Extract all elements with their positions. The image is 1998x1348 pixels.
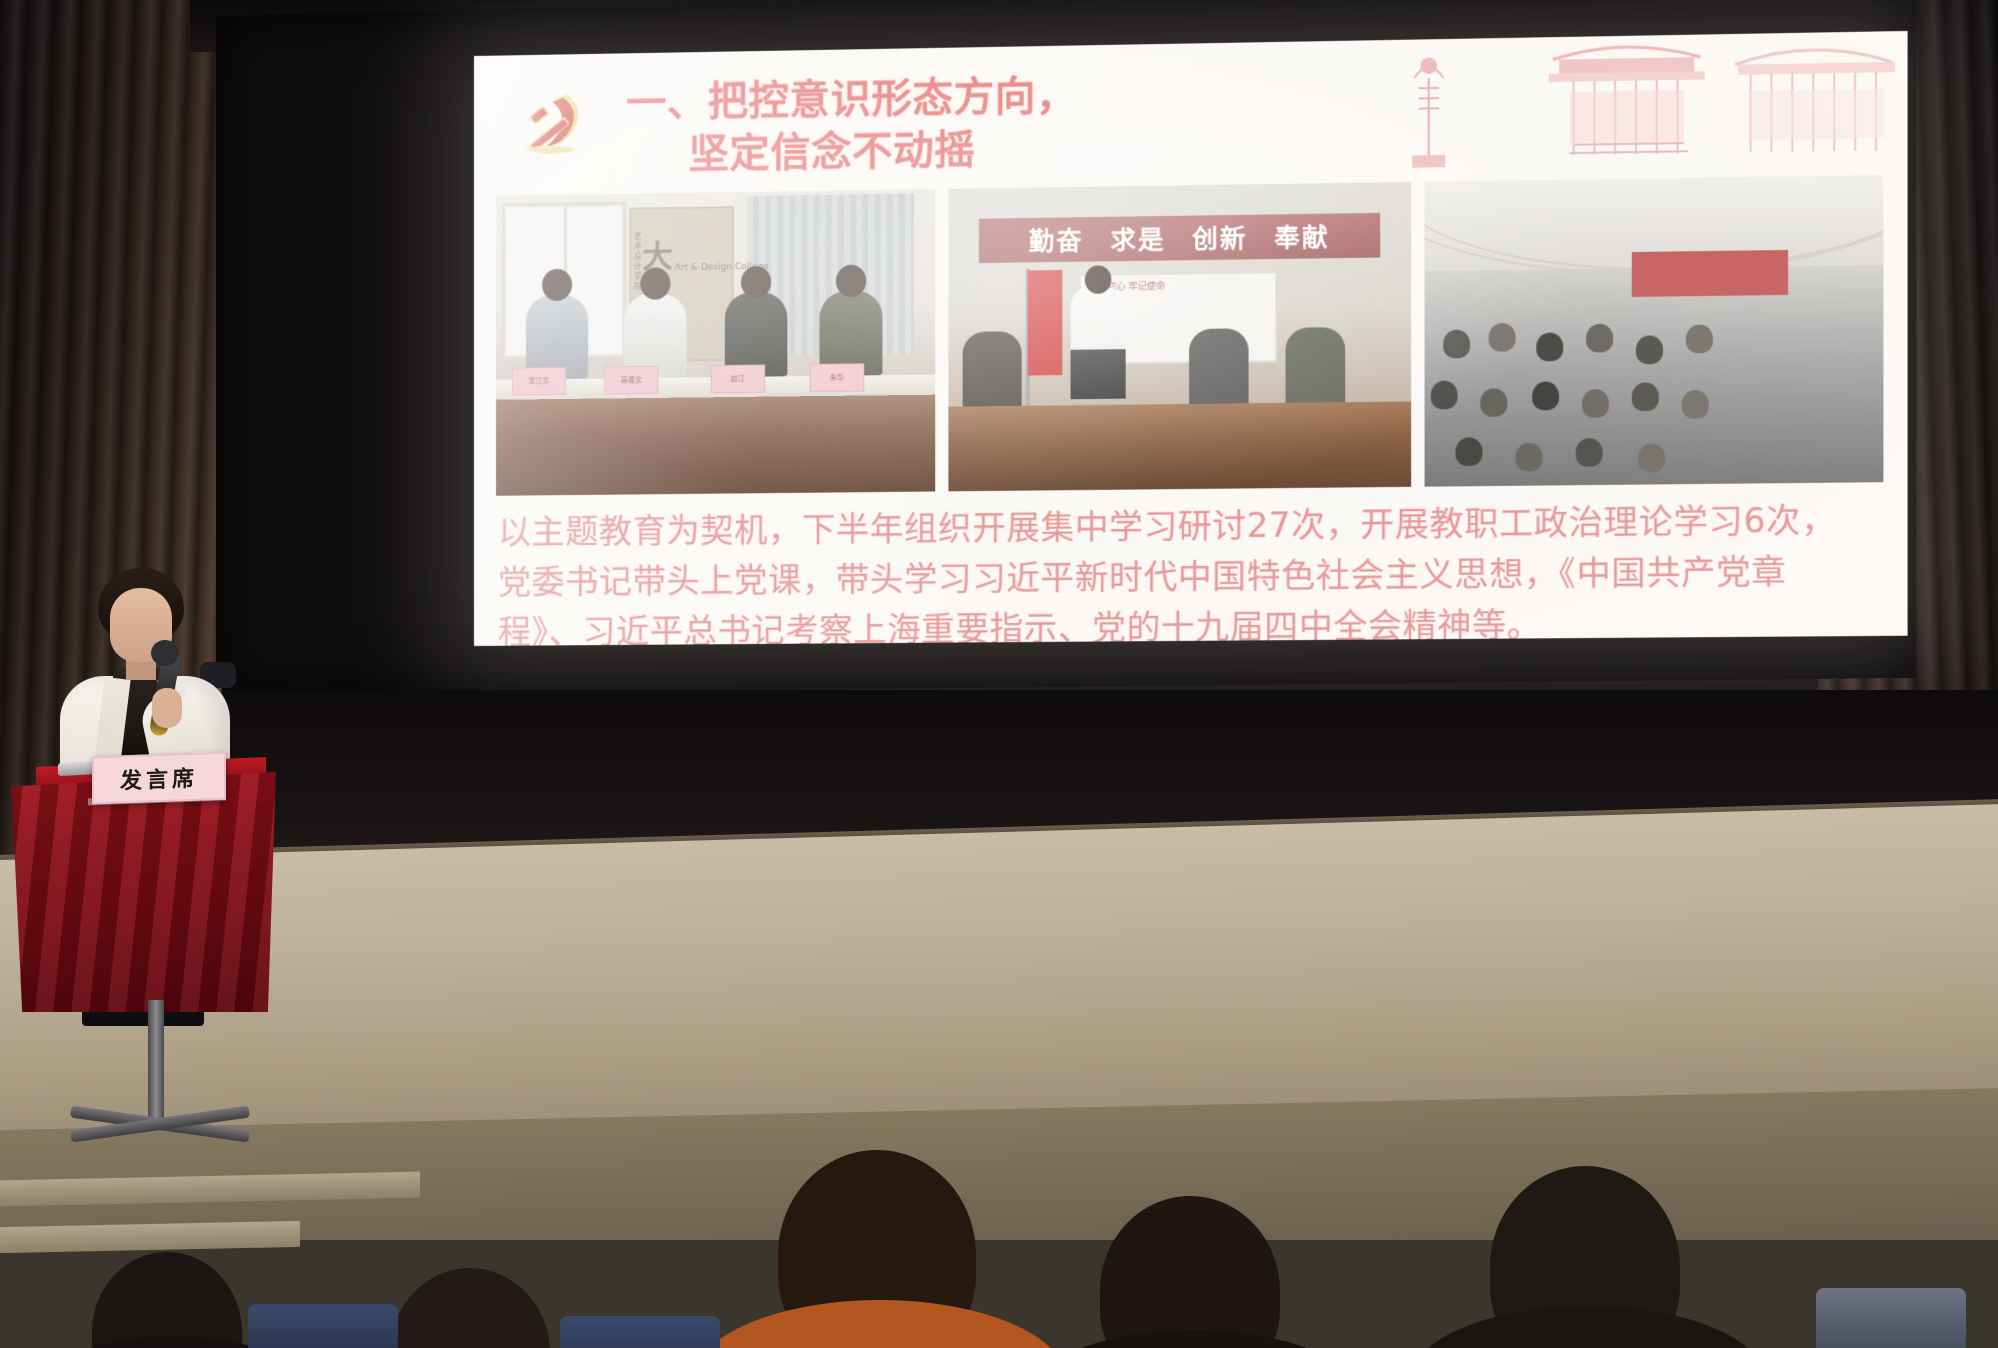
microphone-capsule-icon bbox=[151, 640, 179, 666]
podium-base bbox=[70, 1110, 250, 1150]
banner-word-3: 创新 bbox=[1192, 219, 1247, 256]
slide-canvas: 一、把控意识形态方向， 坚定信念不动摇 艺术设计学院 大 Art & Desig… bbox=[474, 31, 1908, 646]
photo3-audience-seating bbox=[1425, 288, 1884, 487]
slide-title-line2: 坚定信念不动摇 bbox=[689, 118, 1338, 181]
audience-seat bbox=[560, 1316, 720, 1348]
podium-leg bbox=[148, 1000, 164, 1122]
slide-body-text: 以主题教育为契机，下半年组织开展集中学习研讨27次，开展教职工政治理论学习6次，… bbox=[498, 495, 1882, 646]
audience-seat bbox=[248, 1304, 398, 1348]
slide-title: 一、把控意识形态方向， 坚定信念不动摇 bbox=[626, 65, 1338, 181]
banner-word-1: 勤奋 bbox=[1029, 221, 1084, 258]
podium-nameplate: 发言席 bbox=[92, 752, 226, 805]
photo-lecture-hall bbox=[1425, 175, 1884, 487]
photo2-student bbox=[1286, 327, 1346, 407]
photo2-desk bbox=[948, 401, 1411, 491]
photo1-nameplate: 朱华 bbox=[810, 363, 865, 392]
slide-photo-strip: 艺术设计学院 大 Art & Design College 李江华 高德文 赵江… bbox=[496, 175, 1883, 496]
party-emblem-hammer-sickle-icon bbox=[510, 82, 596, 168]
banner-word-2: 求是 bbox=[1110, 220, 1165, 257]
presentation-scene-photo: 一、把控意识形态方向， 坚定信念不动摇 艺术设计学院 大 Art & Desig… bbox=[0, 0, 1998, 1348]
photo-meeting-room: 艺术设计学院 大 Art & Design College 李江华 高德文 赵江… bbox=[496, 189, 935, 496]
banner-word-4: 奉献 bbox=[1274, 218, 1330, 255]
photo2-slogan-banner: 勤奋 求是 创新 奉献 bbox=[979, 213, 1380, 263]
photo2-student bbox=[963, 331, 1022, 410]
audience-seat bbox=[1816, 1288, 1966, 1348]
photo1-nameplate: 赵江 bbox=[711, 364, 765, 393]
photo2-student bbox=[1189, 328, 1248, 408]
photo1-table bbox=[496, 395, 935, 496]
tiananmen-architecture-decoration bbox=[1264, 31, 1908, 190]
projected-slide: 一、把控意识形态方向， 坚定信念不动摇 艺术设计学院 大 Art & Desig… bbox=[474, 31, 1908, 646]
photo1-nameplate: 李江华 bbox=[512, 367, 566, 396]
speaker-hand-right bbox=[152, 688, 182, 728]
photo2-national-flag bbox=[1028, 270, 1063, 375]
photo2-presenter bbox=[1071, 287, 1126, 399]
podium-cloth-folds bbox=[6, 772, 276, 1012]
slide-title-line1: 一、把控意识形态方向， bbox=[626, 73, 1077, 127]
photo-classroom-lecture: 勤奋 求是 创新 奉献 不忘初心 牢记使命 bbox=[948, 182, 1411, 491]
photo1-nameplate: 高德文 bbox=[604, 366, 658, 395]
podium-red-cloth bbox=[6, 772, 276, 1012]
